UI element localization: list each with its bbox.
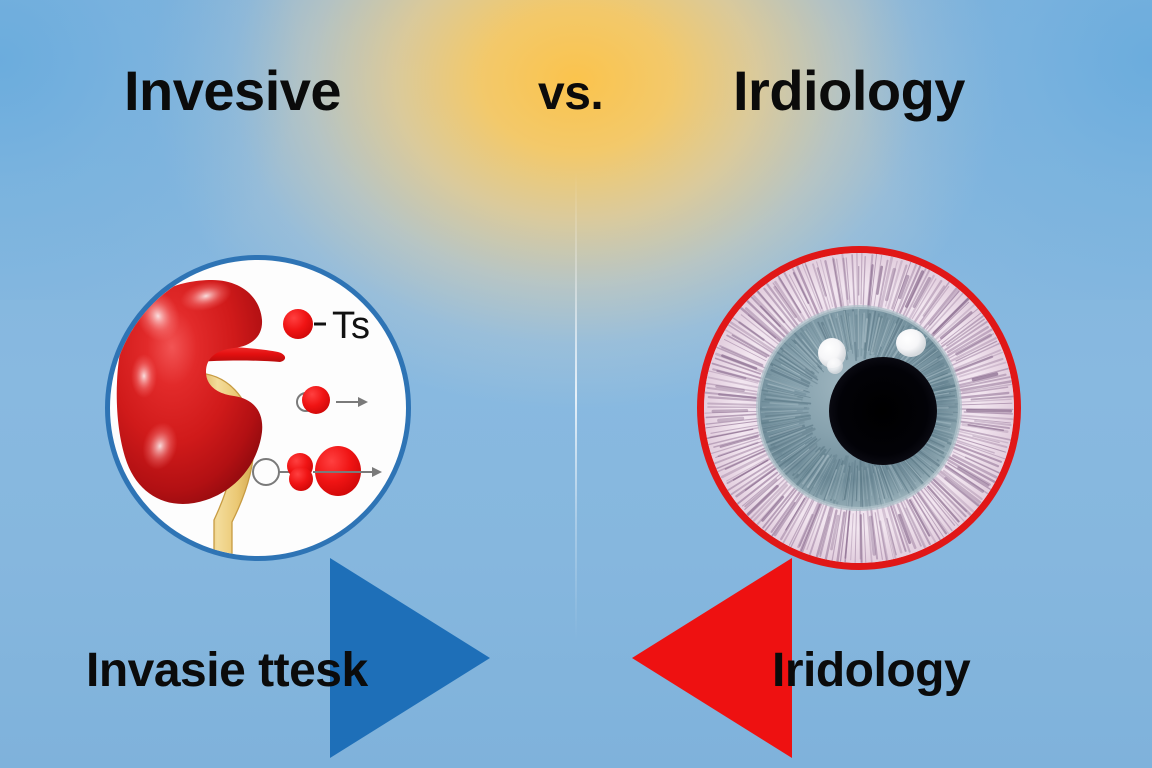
kidney-diagram-svg: Ts: [110, 260, 406, 556]
eye-badge-circle: [697, 246, 1021, 570]
title-right-term: Irdiology: [733, 58, 965, 123]
pupil: [829, 357, 937, 465]
red-arrow-left-icon: [632, 558, 792, 758]
iridology-panel: [576, 220, 1152, 620]
title-versus-separator: vs.: [538, 66, 603, 121]
title-left-term: Invesive: [124, 58, 341, 123]
highlight-left-tail: [827, 358, 843, 374]
annotation3-outline-circle: [253, 459, 279, 485]
eye-diagram-svg: [704, 253, 1014, 563]
invasive-test-panel: Ts: [0, 220, 576, 620]
kidney-badge-circle: Ts: [105, 255, 411, 561]
annotation2-arrow-head: [358, 397, 368, 407]
kidney-highlight-mid: [131, 354, 157, 398]
annotation2-blob: [302, 386, 330, 414]
annotation-red-dot: [283, 309, 313, 339]
annotation-ts-label: Ts: [332, 305, 370, 347]
footer-right-label: Iridology: [772, 643, 970, 698]
page-title: Invesive vs. Irdiology: [0, 58, 1152, 142]
annotation3-small-blob-lower: [289, 467, 313, 491]
footer-left-label: Invasie ttesk: [86, 643, 368, 698]
highlight-right: [896, 329, 926, 357]
poster-canvas: Invesive vs. Irdiology: [0, 0, 1152, 768]
annotation3-arrow-head: [372, 467, 382, 477]
